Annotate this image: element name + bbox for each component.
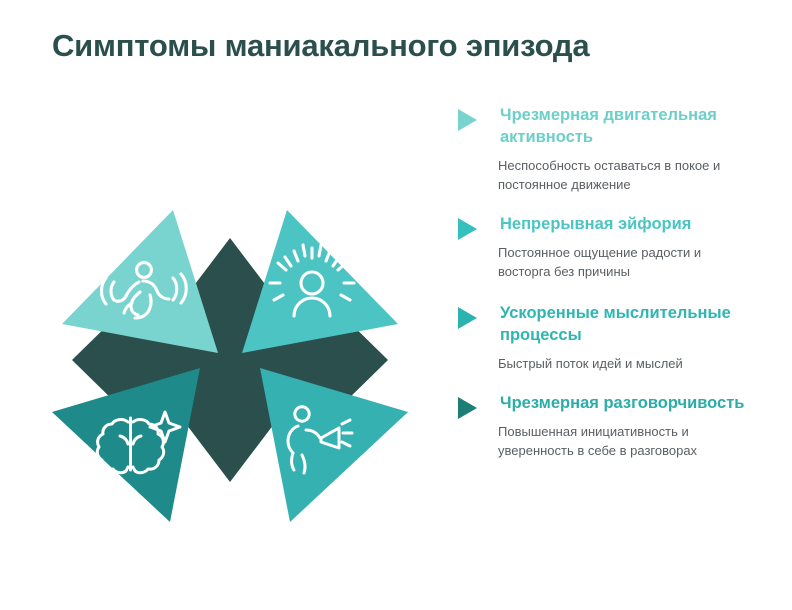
bullet-arrow-icon (458, 397, 477, 419)
symptom-description: Повышенная инициативность и уверенность … (498, 423, 755, 461)
symptom-graphic (40, 150, 420, 570)
bullet-arrow-icon (458, 109, 477, 131)
symptom-description: Постоянное ощущение радости и восторга б… (498, 244, 755, 282)
bullet-arrow-icon (458, 218, 477, 240)
list-item: Ускоренные мыслительные процессы Быстрый… (455, 302, 755, 374)
list-item: Чрезмерная разговорчивость Повышенная ин… (455, 392, 755, 461)
bullet-arrow-icon (458, 307, 477, 329)
symptom-list: Чрезмерная двигательная активность Неспо… (455, 104, 755, 461)
list-item: Непрерывная эйфория Постоянное ощущение … (455, 213, 755, 282)
list-item: Чрезмерная двигательная активность Неспо… (455, 104, 755, 195)
page-title: Симптомы маниакального эпизода (52, 28, 589, 64)
triangle-top-right (242, 210, 398, 353)
triangle-bottom-right (260, 368, 408, 522)
symptom-heading: Ускоренные мыслительные процессы (500, 302, 755, 346)
symptom-description: Быстрый поток идей и мыслей (498, 355, 755, 374)
triangle-bottom-left (52, 368, 200, 522)
symptom-heading: Чрезмерная двигательная активность (500, 104, 755, 148)
symptom-heading: Чрезмерная разговорчивость (500, 392, 755, 414)
triangle-top-left (62, 210, 218, 353)
symptom-description: Неспособность оставаться в покое и посто… (498, 157, 755, 195)
symptom-heading: Непрерывная эйфория (500, 213, 755, 235)
